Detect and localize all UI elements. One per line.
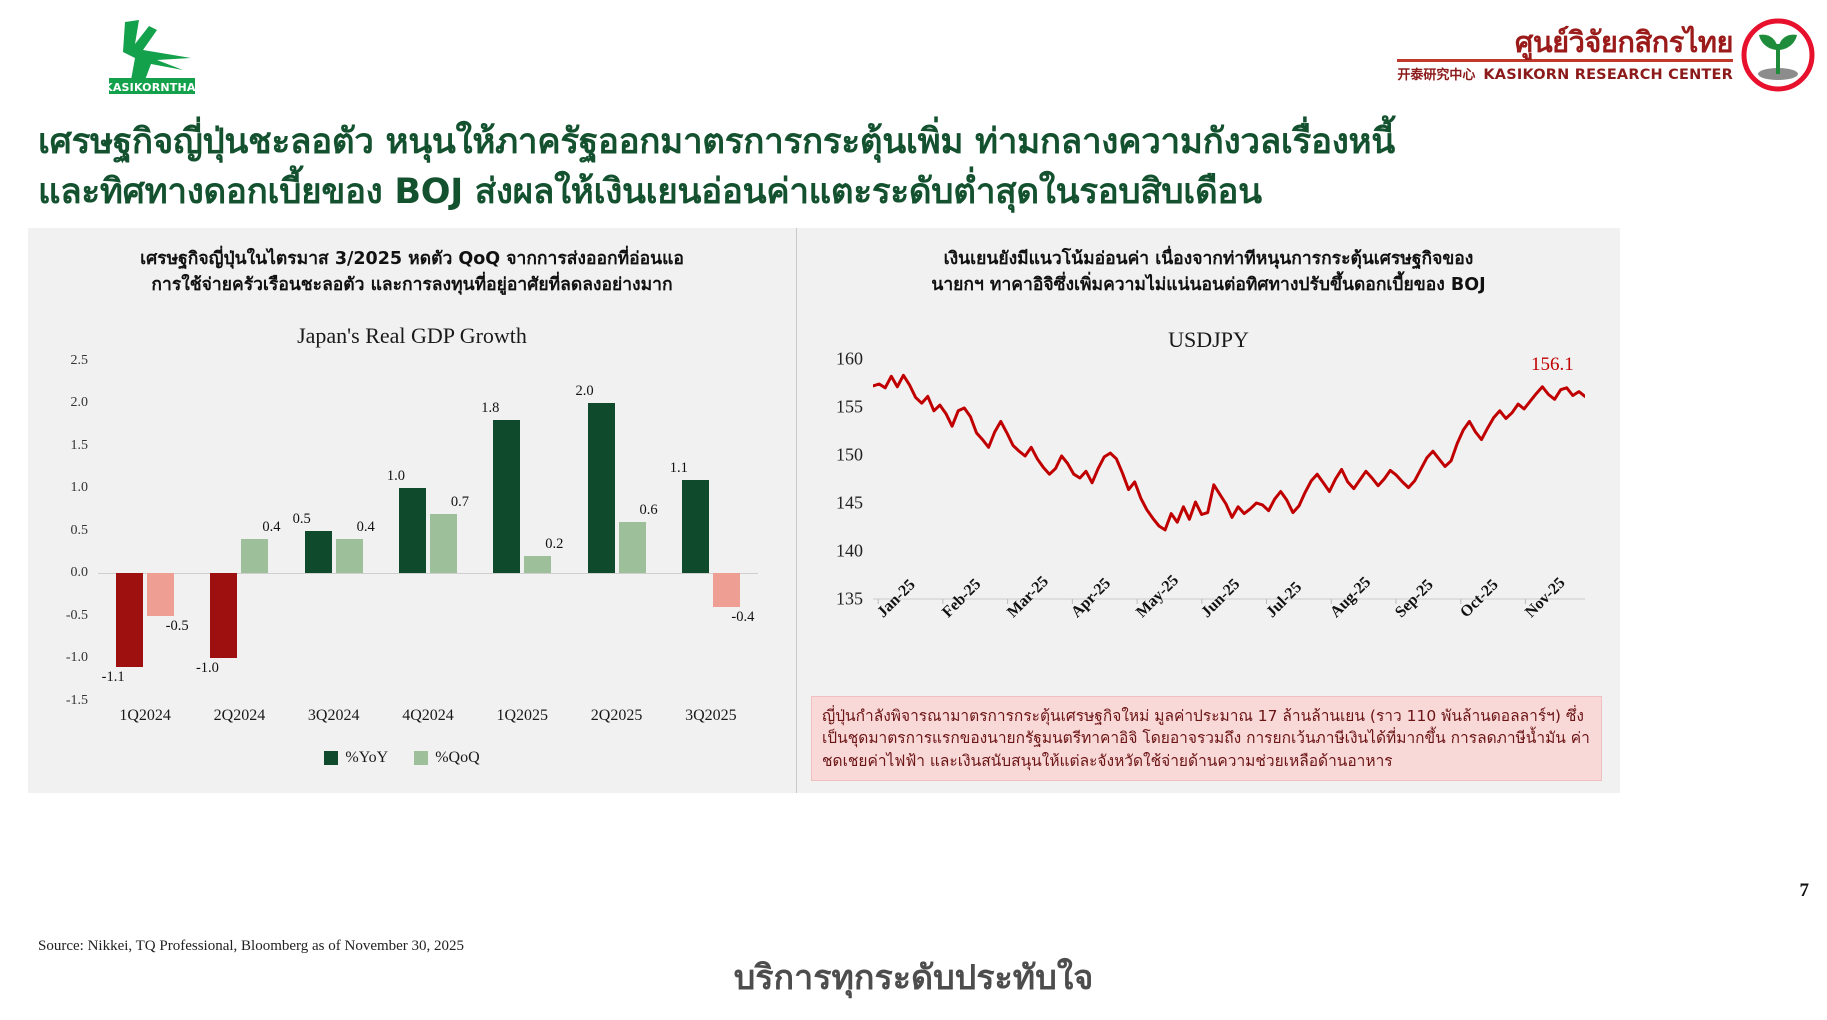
line-y-tick: 145 xyxy=(836,492,863,513)
stimulus-note-text: ญี่ปุ่นกำลังพิจารณามาตรการกระตุ้นเศรษฐกิ… xyxy=(822,705,1591,772)
legend-label: %YoY xyxy=(345,749,388,767)
bar-y-tick: -1.0 xyxy=(66,650,88,666)
bar-qoq xyxy=(336,539,363,573)
krc-sprout-seal-icon xyxy=(1739,16,1817,94)
bar-chart-title: Japan's Real GDP Growth xyxy=(42,323,782,349)
bar-x-tick: 1Q2025 xyxy=(497,707,549,725)
line-y-tick: 160 xyxy=(836,348,863,369)
slide-title: เศรษฐกิจญี่ปุ่นชะลอตัว หนุนให้ภาครัฐออกม… xyxy=(38,118,1518,217)
line-chart-y-axis: 160155150145140135 xyxy=(811,359,869,599)
bar-chart-legend: %YoY%QoQ xyxy=(46,749,758,767)
bar-value-label: -0.4 xyxy=(713,609,773,626)
bar-value-label: -1.0 xyxy=(177,660,237,677)
bar-yoy xyxy=(682,480,709,574)
line-chart-plot-area: 156.1 xyxy=(873,359,1585,599)
line-chart-title: USDJPY xyxy=(811,327,1606,353)
bar-y-tick: 2.0 xyxy=(71,395,89,411)
bar-x-tick: 3Q2024 xyxy=(308,707,360,725)
legend-item[interactable]: %YoY xyxy=(324,749,388,767)
krc-divider xyxy=(1397,59,1733,62)
left-heading-line-1: เศรษฐกิจญี่ปุ่นในไตรมาส 3/2025 หดตัว QoQ… xyxy=(42,246,782,272)
line-y-tick: 155 xyxy=(836,396,863,417)
bar-value-label: -1.1 xyxy=(83,669,143,686)
bar-y-tick: 0.5 xyxy=(71,523,89,539)
slide-title-line-2: และทิศทางดอกเบี้ยของ BOJ ส่งผลให้เงินเยน… xyxy=(38,168,1518,218)
usdjpy-line-chart: 160155150145140135 156.1 Jan-25Feb-25Mar… xyxy=(811,359,1601,689)
page-number: 7 xyxy=(1800,880,1810,902)
legend-label: %QoQ xyxy=(435,749,479,767)
left-heading-line-2: การใช้จ่ายครัวเรือนชะลอตัว และการลงทุนที… xyxy=(42,272,782,298)
bar-qoq xyxy=(430,514,457,574)
bar-yoy xyxy=(305,531,332,574)
right-panel-heading: เงินเยนยังมีแนวโน้มอ่อนค่า เนื่องจากท่าท… xyxy=(811,246,1606,299)
bar-group: 2.00.6 xyxy=(569,361,663,701)
bar-qoq xyxy=(713,573,740,607)
bar-group: 1.80.2 xyxy=(475,361,569,701)
bar-x-tick: 3Q2025 xyxy=(685,707,737,725)
line-y-tick: 150 xyxy=(836,444,863,465)
krc-chinese-name: 开泰研究中心 xyxy=(1397,64,1475,83)
bar-y-tick: 1.0 xyxy=(71,480,89,496)
bar-y-tick: -1.5 xyxy=(66,693,88,709)
bar-chart-plot-area: -1.1-0.5-1.00.40.50.41.00.71.80.22.00.61… xyxy=(98,361,758,701)
line-chart-last-value-label: 156.1 xyxy=(1531,354,1574,376)
line-chart-x-axis: Jan-25Feb-25Mar-25Apr-25May-25Jun-25Jul-… xyxy=(873,605,1585,675)
legend-swatch-icon xyxy=(324,751,338,765)
bar-value-label: 1.8 xyxy=(460,400,520,417)
krc-english-name: KASIKORN RESEARCH CENTER xyxy=(1483,67,1733,83)
kasikornthai-wordmark: KASIKORNTHAI xyxy=(104,81,200,94)
slide-title-line-1: เศรษฐกิจญี่ปุ่นชะลอตัว หนุนให้ภาครัฐออกม… xyxy=(38,118,1518,168)
bar-x-tick: 4Q2024 xyxy=(402,707,454,725)
bar-chart-y-axis: 2.52.01.51.00.50.0-0.5-1.0-1.5 xyxy=(46,361,92,701)
bar-y-tick: -0.5 xyxy=(66,608,88,624)
bar-chart-x-axis: 1Q20242Q20243Q20244Q20241Q20252Q20253Q20… xyxy=(98,707,758,737)
usdjpy-line-path xyxy=(873,359,1585,605)
bar-chart: 2.52.01.51.00.50.0-0.5-1.0-1.5 -1.1-0.5-… xyxy=(46,361,758,751)
legend-item[interactable]: %QoQ xyxy=(414,749,479,767)
bar-qoq xyxy=(241,539,268,573)
right-heading-line-1: เงินเยนยังมีแนวโน้มอ่อนค่า เนื่องจากท่าท… xyxy=(811,246,1606,272)
bar-yoy xyxy=(210,573,237,658)
right-heading-line-2: นายกฯ ทาคาอิจิซึ่งเพิ่มความไม่แน่นอนต่อท… xyxy=(811,272,1606,298)
bar-group: 1.1-0.4 xyxy=(664,361,758,701)
bar-yoy xyxy=(116,573,143,667)
right-panel: เงินเยนยังมีแนวโน้มอ่อนค่า เนื่องจากท่าท… xyxy=(796,228,1620,793)
bar-group: -1.00.4 xyxy=(192,361,286,701)
bar-y-tick: 2.5 xyxy=(71,353,89,369)
legend-swatch-icon xyxy=(414,751,428,765)
bar-qoq xyxy=(147,573,174,616)
bar-qoq xyxy=(524,556,551,573)
corporate-tagline: บริการทุกระดับประทับใจ xyxy=(0,950,1827,1004)
line-y-tick: 140 xyxy=(836,540,863,561)
bar-yoy xyxy=(493,420,520,573)
bar-group: 0.50.4 xyxy=(287,361,381,701)
bar-x-tick: 2Q2025 xyxy=(591,707,643,725)
bar-y-tick: 0.0 xyxy=(71,565,89,581)
bar-value-label: 0.5 xyxy=(272,511,332,528)
bar-x-tick: 2Q2024 xyxy=(214,707,266,725)
kasikorn-research-center-logo: ศูนย์วิจัยกสิกรไทย 开泰研究中心 KASIKORN RESEA… xyxy=(1397,14,1817,96)
bar-yoy xyxy=(588,403,615,573)
bar-x-tick: 1Q2024 xyxy=(119,707,171,725)
krc-thai-name: ศูนย์วิจัยกสิกรไทย xyxy=(1397,27,1733,57)
bar-y-tick: 1.5 xyxy=(71,438,89,454)
bar-yoy xyxy=(399,488,426,573)
slide-root: KASIKORNTHAI ศูนย์วิจัยกสิกรไทย 开泰研究中心 K… xyxy=(0,0,1827,1020)
kasikornthai-logo: KASIKORNTHAI xyxy=(95,18,205,96)
bar-value-label: 2.0 xyxy=(555,383,615,400)
line-y-tick: 135 xyxy=(836,588,863,609)
panel-container: เศรษฐกิจญี่ปุ่นในไตรมาส 3/2025 หดตัว QoQ… xyxy=(28,228,1620,793)
bar-qoq xyxy=(619,522,646,573)
bar-group: -1.1-0.5 xyxy=(98,361,192,701)
stimulus-note-box: ญี่ปุ่นกำลังพิจารณามาตรการกระตุ้นเศรษฐกิ… xyxy=(811,696,1602,781)
krc-text-block: ศูนย์วิจัยกสิกรไทย 开泰研究中心 KASIKORN RESEA… xyxy=(1397,27,1733,83)
left-panel-heading: เศรษฐกิจญี่ปุ่นในไตรมาส 3/2025 หดตัว QoQ… xyxy=(42,246,782,299)
bar-value-label: 1.0 xyxy=(366,468,426,485)
left-panel: เศรษฐกิจญี่ปุ่นในไตรมาส 3/2025 หดตัว QoQ… xyxy=(28,228,796,793)
bar-value-label: 1.1 xyxy=(649,460,709,477)
